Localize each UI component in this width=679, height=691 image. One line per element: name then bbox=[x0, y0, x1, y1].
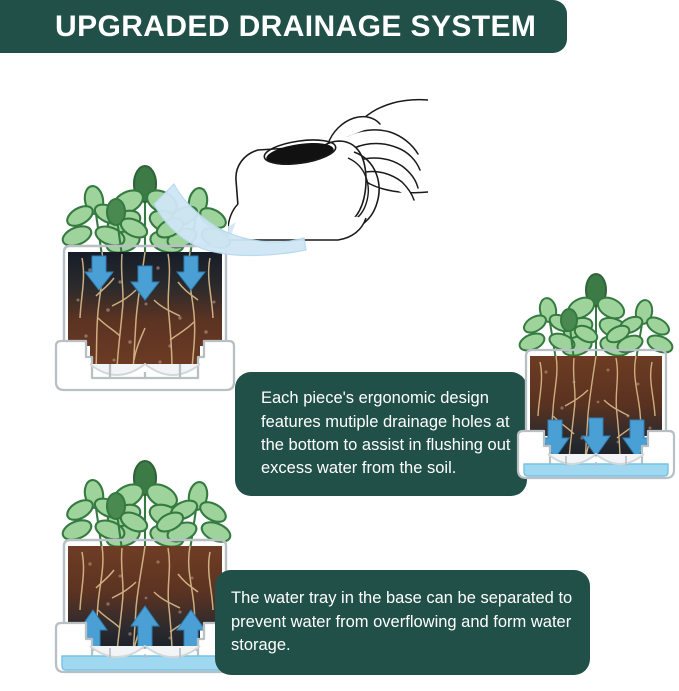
planter-right bbox=[512, 268, 679, 500]
plant-foliage bbox=[517, 274, 675, 360]
page-title: UPGRADED DRAINAGE SYSTEM bbox=[55, 12, 536, 42]
callout-drainage-holes: Each piece's ergonomic design features m… bbox=[235, 372, 527, 496]
plant-foliage bbox=[60, 461, 233, 550]
callout-drainage-holes-text: Each piece's ergonomic design features m… bbox=[261, 387, 513, 481]
callout-water-tray: The water tray in the base can be separa… bbox=[215, 570, 590, 675]
header-banner: UPGRADED DRAINAGE SYSTEM bbox=[0, 0, 567, 53]
infographic-canvas: UPGRADED DRAINAGE SYSTEM bbox=[0, 0, 679, 691]
callout-water-tray-text: The water tray in the base can be separa… bbox=[231, 587, 576, 657]
tray-water bbox=[62, 656, 228, 670]
water-flow-arrows-down bbox=[541, 418, 651, 458]
planter-bottom-left bbox=[50, 458, 240, 690]
water-stream-pour bbox=[118, 150, 308, 260]
